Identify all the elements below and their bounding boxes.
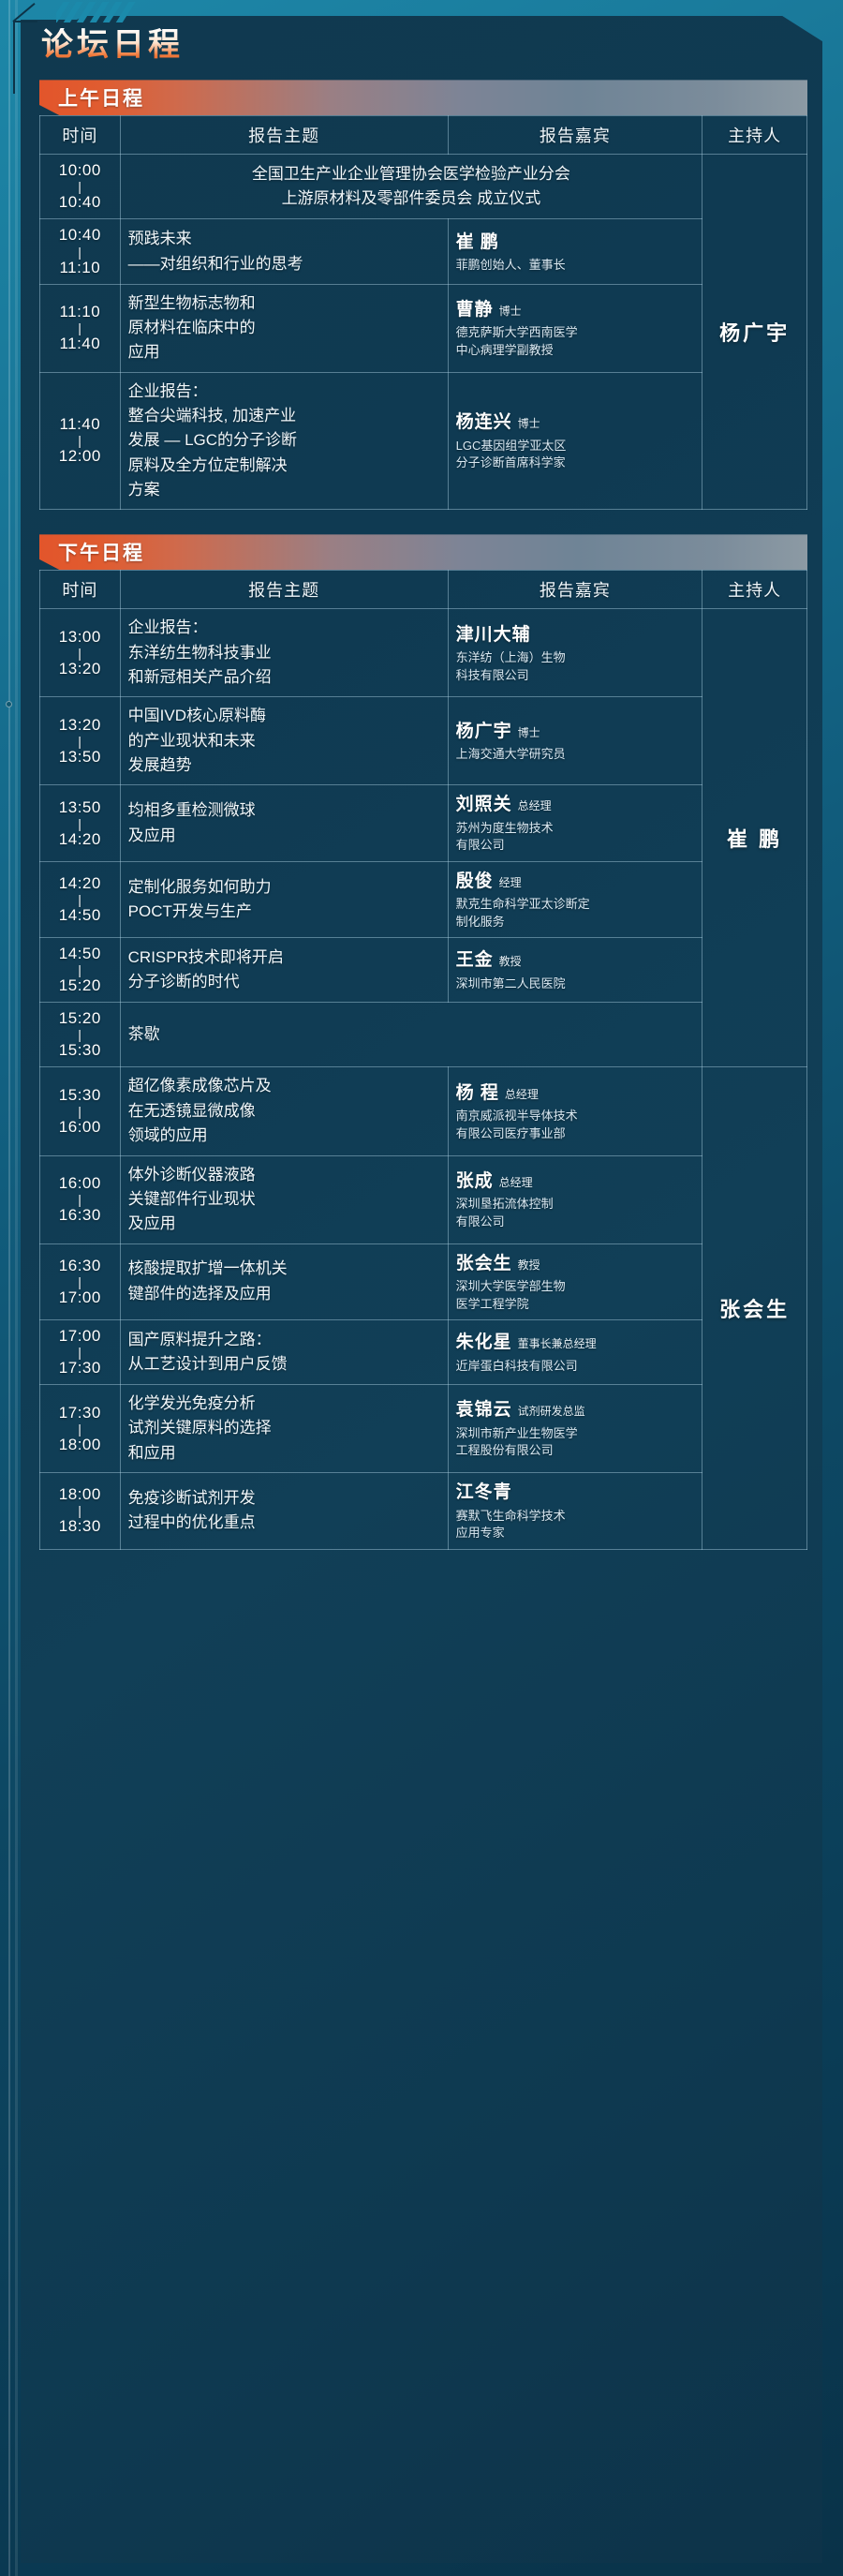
guest-cell: 杨连兴博士LGC基因组学亚太区 分子诊断首席科学家 <box>448 372 702 510</box>
topic-cell: 企业报告：东洋纺生物科技事业和新冠相关产品介绍 <box>120 609 448 697</box>
morning-header-topic: 报告主题 <box>120 116 448 155</box>
time-end: 15:20 <box>59 976 101 994</box>
topic-line: 过程中的优化重点 <box>128 1511 440 1535</box>
topic-line: 体外诊断仪器液路 <box>128 1163 440 1187</box>
guest-organization: 德克萨斯大学西南医学 中心病理学副教授 <box>456 324 695 359</box>
guest-name: 朱化星 <box>456 1333 512 1352</box>
guest-cell: 江冬青赛默飞生命科学技术 应用专家 <box>448 1473 702 1549</box>
afternoon-header-time: 时间 <box>40 571 121 609</box>
time-cell: 15:30|16:00 <box>40 1067 121 1155</box>
guest-name: 张会生 <box>456 1254 512 1273</box>
time-end: 18:00 <box>59 1436 101 1453</box>
topic-line: 预践未来 <box>128 227 440 251</box>
topic-line: 企业报告： <box>128 380 440 404</box>
topic-line: 和应用 <box>128 1441 440 1466</box>
topic-cell: 预践未来——对组织和行业的思考 <box>120 219 448 284</box>
topic-line: ——对组织和行业的思考 <box>128 252 440 276</box>
guest-organization: 上海交通大学研究员 <box>456 746 695 763</box>
table-row: 13:00|13:20企业报告：东洋纺生物科技事业和新冠相关产品介绍津川大辅东洋… <box>40 609 807 697</box>
guest-name: 张成 <box>456 1171 494 1191</box>
time-start: 16:00 <box>59 1174 101 1192</box>
diagonal-hatch-decoration <box>56 2 197 22</box>
table-row: 11:10|11:40新型生物标志物和原材料在临床中的应用曹静博士德克萨斯大学西… <box>40 284 807 372</box>
topic-line: 的产业现状和未来 <box>128 729 440 753</box>
time-start: 13:50 <box>59 798 101 816</box>
guest-title: 博士 <box>518 417 540 430</box>
guest-cell: 刘照关总经理苏州为度生物技术 有限公司 <box>448 785 702 861</box>
guest-name: 王金 <box>456 950 494 970</box>
topic-line: 应用 <box>128 340 440 365</box>
topic-line: 定制化服务如何助力 <box>128 875 440 900</box>
afternoon-section-banner: 下午日程 <box>39 534 807 570</box>
guest-organization: 深圳垦拓流体控制 有限公司 <box>456 1196 695 1230</box>
topic-line: 从工艺设计到用户反馈 <box>128 1352 440 1377</box>
topic-line: 核酸提取扩增一体机关 <box>128 1257 440 1281</box>
topic-line: POCT开发与生产 <box>128 900 440 924</box>
time-dash: | <box>48 1422 112 1436</box>
guest-organization: 南京威派视半导体技术 有限公司医疗事业部 <box>456 1108 695 1142</box>
guest-cell: 张成总经理深圳垦拓流体控制 有限公司 <box>448 1155 702 1243</box>
guest-name: 杨广宇 <box>456 722 512 741</box>
guest-organization: 苏州为度生物技术 有限公司 <box>456 820 695 855</box>
time-dash: | <box>48 246 112 259</box>
time-dash: | <box>48 817 112 830</box>
table-row: 13:50|14:20均相多重检测微球及应用刘照关总经理苏州为度生物技术 有限公… <box>40 785 807 861</box>
guest-organization: 深圳大学医学部生物 医学工程学院 <box>456 1278 695 1313</box>
time-dash: | <box>48 1346 112 1359</box>
morning-schedule-table: 时间 报告主题 报告嘉宾 主持人 10:00|10:40全国卫生产业企业管理协会… <box>39 115 807 510</box>
time-cell: 16:30|17:00 <box>40 1243 121 1319</box>
host-cell: 崔 鹏 <box>702 609 807 1067</box>
guest-organization: 东洋纺（上海）生物 科技有限公司 <box>456 649 695 684</box>
time-start: 14:50 <box>59 945 101 962</box>
topic-line: 在无透镜显微成像 <box>128 1099 440 1124</box>
afternoon-header-row: 时间 报告主题 报告嘉宾 主持人 <box>40 571 807 609</box>
guest-title: 总经理 <box>518 799 552 812</box>
topic-line: 超亿像素成像芯片及 <box>128 1074 440 1098</box>
topic-line: 国产原料提升之路： <box>128 1328 440 1352</box>
table-row: 14:50|15:20CRISPR技术即将开启分子诊断的时代王金教授深圳市第二人… <box>40 938 807 1003</box>
afternoon-table-body: 13:00|13:20企业报告：东洋纺生物科技事业和新冠相关产品介绍津川大辅东洋… <box>40 609 807 1549</box>
guest-title: 经理 <box>499 876 522 889</box>
topic-cell: 企业报告：整合尖端科技, 加速产业发展 — LGC的分子诊断原料及全方位定制解决… <box>120 372 448 510</box>
time-dash: | <box>48 1105 112 1118</box>
afternoon-header-guest: 报告嘉宾 <box>448 571 702 609</box>
topic-line: 中国IVD核心原料酶 <box>128 704 440 728</box>
table-row: 14:20|14:50定制化服务如何助力POCT开发与生产殷俊经理默克生命科学亚… <box>40 861 807 937</box>
time-cell: 13:50|14:20 <box>40 785 121 861</box>
topic-line: 键部件的选择及应用 <box>128 1282 440 1306</box>
guest-organization: 菲鹏创始人、董事长 <box>456 257 695 274</box>
time-start: 18:00 <box>59 1485 101 1503</box>
host-cell: 杨广宇 <box>702 155 807 510</box>
time-dash: | <box>48 434 112 447</box>
table-row: 13:20|13:50中国IVD核心原料酶的产业现状和未来发展趋势杨广宇博士上海… <box>40 697 807 785</box>
time-end: 13:50 <box>59 748 101 766</box>
topic-cell: 新型生物标志物和原材料在临床中的应用 <box>120 284 448 372</box>
morning-header-host: 主持人 <box>702 116 807 155</box>
guest-title: 教授 <box>518 1258 540 1272</box>
time-start: 15:30 <box>59 1086 101 1104</box>
guest-name: 曹静 <box>456 300 494 320</box>
morning-table-body: 10:00|10:40全国卫生产业企业管理协会医学检验产业分会上游原材料及零部件… <box>40 155 807 510</box>
guest-organization: 近岸蛋白科技有限公司 <box>456 1358 695 1375</box>
time-cell: 17:00|17:30 <box>40 1320 121 1385</box>
guest-name: 津川大辅 <box>456 625 531 645</box>
afternoon-schedule-table: 时间 报告主题 报告嘉宾 主持人 13:00|13:20企业报告：东洋纺生物科技… <box>39 570 807 1549</box>
topic-line: 均相多重检测微球 <box>128 798 440 823</box>
guest-name: 崔 鹏 <box>456 232 499 252</box>
time-start: 13:00 <box>59 628 101 646</box>
guest-name: 刘照关 <box>456 795 512 814</box>
time-start: 14:20 <box>59 874 101 892</box>
topic-line: 全国卫生产业企业管理协会医学检验产业分会 <box>128 162 695 186</box>
guest-cell: 朱化星董事长兼总经理近岸蛋白科技有限公司 <box>448 1320 702 1385</box>
topic-cell: 免疫诊断试剂开发过程中的优化重点 <box>120 1473 448 1549</box>
time-cell: 13:20|13:50 <box>40 697 121 785</box>
topic-line: 新型生物标志物和 <box>128 291 440 316</box>
guest-title: 博士 <box>518 726 540 739</box>
time-end: 14:20 <box>59 830 101 848</box>
time-dash: | <box>48 180 112 193</box>
topic-cell: 核酸提取扩增一体机关键部件的选择及应用 <box>120 1243 448 1319</box>
table-row: 15:20|15:30茶歇 <box>40 1003 807 1067</box>
page-title: 论坛日程 <box>39 28 807 63</box>
guest-cell: 杨广宇博士上海交通大学研究员 <box>448 697 702 785</box>
time-dash: | <box>48 735 112 748</box>
guest-title: 董事长兼总经理 <box>518 1337 597 1350</box>
topic-line: 企业报告： <box>128 616 440 640</box>
section-spacer <box>39 510 807 534</box>
table-row: 16:30|17:00核酸提取扩增一体机关键部件的选择及应用张会生教授深圳大学医… <box>40 1243 807 1319</box>
time-dash: | <box>48 963 112 976</box>
topic-line: 领域的应用 <box>128 1124 440 1148</box>
guest-title: 博士 <box>499 305 522 318</box>
time-end: 16:00 <box>59 1118 101 1136</box>
topic-line: CRISPR技术即将开启 <box>128 946 440 970</box>
topic-line: 化学发光免疫分析 <box>128 1392 440 1416</box>
time-start: 17:00 <box>59 1327 101 1345</box>
time-cell: 11:10|11:40 <box>40 284 121 372</box>
topic-line: 原料及全方位定制解决 <box>128 454 440 478</box>
time-end: 11:10 <box>59 259 100 276</box>
time-cell: 13:00|13:20 <box>40 609 121 697</box>
table-row: 17:00|17:30国产原料提升之路：从工艺设计到用户反馈朱化星董事长兼总经理… <box>40 1320 807 1385</box>
guest-cell: 曹静博士德克萨斯大学西南医学 中心病理学副教授 <box>448 284 702 372</box>
afternoon-header-topic: 报告主题 <box>120 571 448 609</box>
topic-line: 东洋纺生物科技事业 <box>128 641 440 665</box>
guest-title: 教授 <box>499 955 522 968</box>
table-row: 17:30|18:00化学发光免疫分析试剂关键原料的选择和应用袁锦云试剂研发总监… <box>40 1385 807 1473</box>
topic-line: 发展 — LGC的分子诊断 <box>128 428 440 453</box>
topic-cell: 化学发光免疫分析试剂关键原料的选择和应用 <box>120 1385 448 1473</box>
time-end: 17:30 <box>59 1359 101 1377</box>
topic-line: 及应用 <box>128 1212 440 1236</box>
topic-line: 免疫诊断试剂开发 <box>128 1486 440 1511</box>
table-row: 11:40|12:00企业报告：整合尖端科技, 加速产业发展 — LGC的分子诊… <box>40 372 807 510</box>
topic-line: 原材料在临床中的 <box>128 316 440 340</box>
topic-line: 发展趋势 <box>128 753 440 778</box>
time-cell: 16:00|16:30 <box>40 1155 121 1243</box>
left-edge-marker-dot <box>6 701 12 707</box>
guest-organization: 深圳市第二人民医院 <box>456 975 695 992</box>
afternoon-header-host: 主持人 <box>702 571 807 609</box>
time-start: 13:20 <box>59 716 101 734</box>
table-row: 10:40|11:10预践未来——对组织和行业的思考崔 鹏菲鹏创始人、董事长 <box>40 219 807 284</box>
morning-header-time: 时间 <box>40 116 121 155</box>
table-row: 16:00|16:30体外诊断仪器液路关键部件行业现状及应用张成总经理深圳垦拓流… <box>40 1155 807 1243</box>
time-start: 11:10 <box>59 303 100 320</box>
time-cell: 15:20|15:30 <box>40 1003 121 1067</box>
poster-content: 论坛日程 上午日程 时间 报告主题 报告嘉宾 主持人 10:00|10:40全国… <box>39 28 807 2550</box>
time-end: 16:30 <box>59 1206 101 1224</box>
time-dash: | <box>48 321 112 335</box>
topic-line: 分子诊断的时代 <box>128 970 440 994</box>
topic-cell: 中国IVD核心原料酶的产业现状和未来发展趋势 <box>120 697 448 785</box>
time-end: 11:40 <box>59 335 100 352</box>
guest-title: 试剂研发总监 <box>518 1405 585 1418</box>
guest-cell: 津川大辅东洋纺（上海）生物 科技有限公司 <box>448 609 702 697</box>
guest-cell: 杨 程总经理南京威派视半导体技术 有限公司医疗事业部 <box>448 1067 702 1155</box>
topic-line: 上游原材料及零部件委员会 成立仪式 <box>128 186 695 211</box>
time-cell: 10:00|10:40 <box>40 155 121 219</box>
guest-name: 殷俊 <box>456 871 494 891</box>
time-dash: | <box>48 647 112 660</box>
guest-organization: LGC基因组学亚太区 分子诊断首席科学家 <box>456 438 695 472</box>
topic-cell: 体外诊断仪器液路关键部件行业现状及应用 <box>120 1155 448 1243</box>
afternoon-banner-label: 下午日程 <box>39 538 144 566</box>
topic-cell: CRISPR技术即将开启分子诊断的时代 <box>120 938 448 1003</box>
topic-cell: 均相多重检测微球及应用 <box>120 785 448 861</box>
time-cell: 10:40|11:10 <box>40 219 121 284</box>
morning-section-banner: 上午日程 <box>39 80 807 115</box>
guest-title: 总经理 <box>499 1176 533 1189</box>
time-end: 14:50 <box>59 906 101 924</box>
guest-cell: 殷俊经理默克生命科学亚太诊断定 制化服务 <box>448 861 702 937</box>
topic-line: 整合尖端科技, 加速产业 <box>128 404 440 428</box>
guest-name: 袁锦云 <box>456 1400 512 1420</box>
guest-cell: 崔 鹏菲鹏创始人、董事长 <box>448 219 702 284</box>
guest-name: 杨连兴 <box>456 412 512 432</box>
corner-bracket-decoration <box>13 21 37 94</box>
time-cell: 14:50|15:20 <box>40 938 121 1003</box>
time-cell: 11:40|12:00 <box>40 372 121 510</box>
time-dash: | <box>48 1028 112 1041</box>
table-row: 18:00|18:30免疫诊断试剂开发过程中的优化重点江冬青赛默飞生命科学技术 … <box>40 1473 807 1549</box>
morning-header-guest: 报告嘉宾 <box>448 116 702 155</box>
topic-line: 试剂关键原料的选择 <box>128 1416 440 1440</box>
guest-cell: 王金教授深圳市第二人民医院 <box>448 938 702 1003</box>
guest-name: 杨 程 <box>456 1083 499 1103</box>
topic-cell: 超亿像素成像芯片及在无透镜显微成像领域的应用 <box>120 1067 448 1155</box>
time-start: 15:20 <box>59 1009 101 1027</box>
time-dash: | <box>48 893 112 906</box>
time-cell: 17:30|18:00 <box>40 1385 121 1473</box>
time-start: 10:00 <box>59 161 101 179</box>
time-start: 11:40 <box>59 415 100 433</box>
time-dash: | <box>48 1504 112 1517</box>
guest-cell: 张会生教授深圳大学医学部生物 医学工程学院 <box>448 1243 702 1319</box>
time-end: 12:00 <box>59 447 101 465</box>
topic-cell: 国产原料提升之路：从工艺设计到用户反馈 <box>120 1320 448 1385</box>
time-start: 10:40 <box>59 226 101 244</box>
morning-banner-label: 上午日程 <box>39 83 144 112</box>
morning-header-row: 时间 报告主题 报告嘉宾 主持人 <box>40 116 807 155</box>
time-dash: | <box>48 1275 112 1288</box>
guest-name: 江冬青 <box>456 1482 512 1502</box>
topic-cell: 全国卫生产业企业管理协会医学检验产业分会上游原材料及零部件委员会 成立仪式 <box>120 155 702 219</box>
table-row: 15:30|16:00超亿像素成像芯片及在无透镜显微成像领域的应用杨 程总经理南… <box>40 1067 807 1155</box>
guest-cell: 袁锦云试剂研发总监深圳市新产业生物医学 工程股份有限公司 <box>448 1385 702 1473</box>
left-edge-accent-line-1 <box>8 0 10 2576</box>
time-end: 10:40 <box>59 193 101 211</box>
topic-line: 和新冠相关产品介绍 <box>128 665 440 690</box>
table-row: 10:00|10:40全国卫生产业企业管理协会医学检验产业分会上游原材料及零部件… <box>40 155 807 219</box>
time-end: 13:20 <box>59 660 101 678</box>
topic-line: 关键部件行业现状 <box>128 1187 440 1212</box>
time-cell: 14:20|14:50 <box>40 861 121 937</box>
guest-organization: 深圳市新产业生物医学 工程股份有限公司 <box>456 1425 695 1460</box>
time-dash: | <box>48 1193 112 1206</box>
time-start: 16:30 <box>59 1257 101 1274</box>
topic-line: 方案 <box>128 478 440 502</box>
left-edge-accent-line-2 <box>15 0 18 2576</box>
topic-line: 茶歇 <box>128 1022 695 1047</box>
topic-cell: 茶歇 <box>120 1003 702 1067</box>
guest-organization: 赛默飞生命科学技术 应用专家 <box>456 1508 695 1542</box>
guest-title: 总经理 <box>505 1088 539 1101</box>
time-cell: 18:00|18:30 <box>40 1473 121 1549</box>
guest-organization: 默克生命科学亚太诊断定 制化服务 <box>456 896 695 931</box>
topic-cell: 定制化服务如何助力POCT开发与生产 <box>120 861 448 937</box>
host-cell: 张会生 <box>702 1067 807 1549</box>
topic-line: 及应用 <box>128 824 440 848</box>
time-end: 17:00 <box>59 1288 101 1306</box>
time-end: 15:30 <box>59 1041 101 1059</box>
time-start: 17:30 <box>59 1404 101 1422</box>
time-end: 18:30 <box>59 1517 101 1535</box>
